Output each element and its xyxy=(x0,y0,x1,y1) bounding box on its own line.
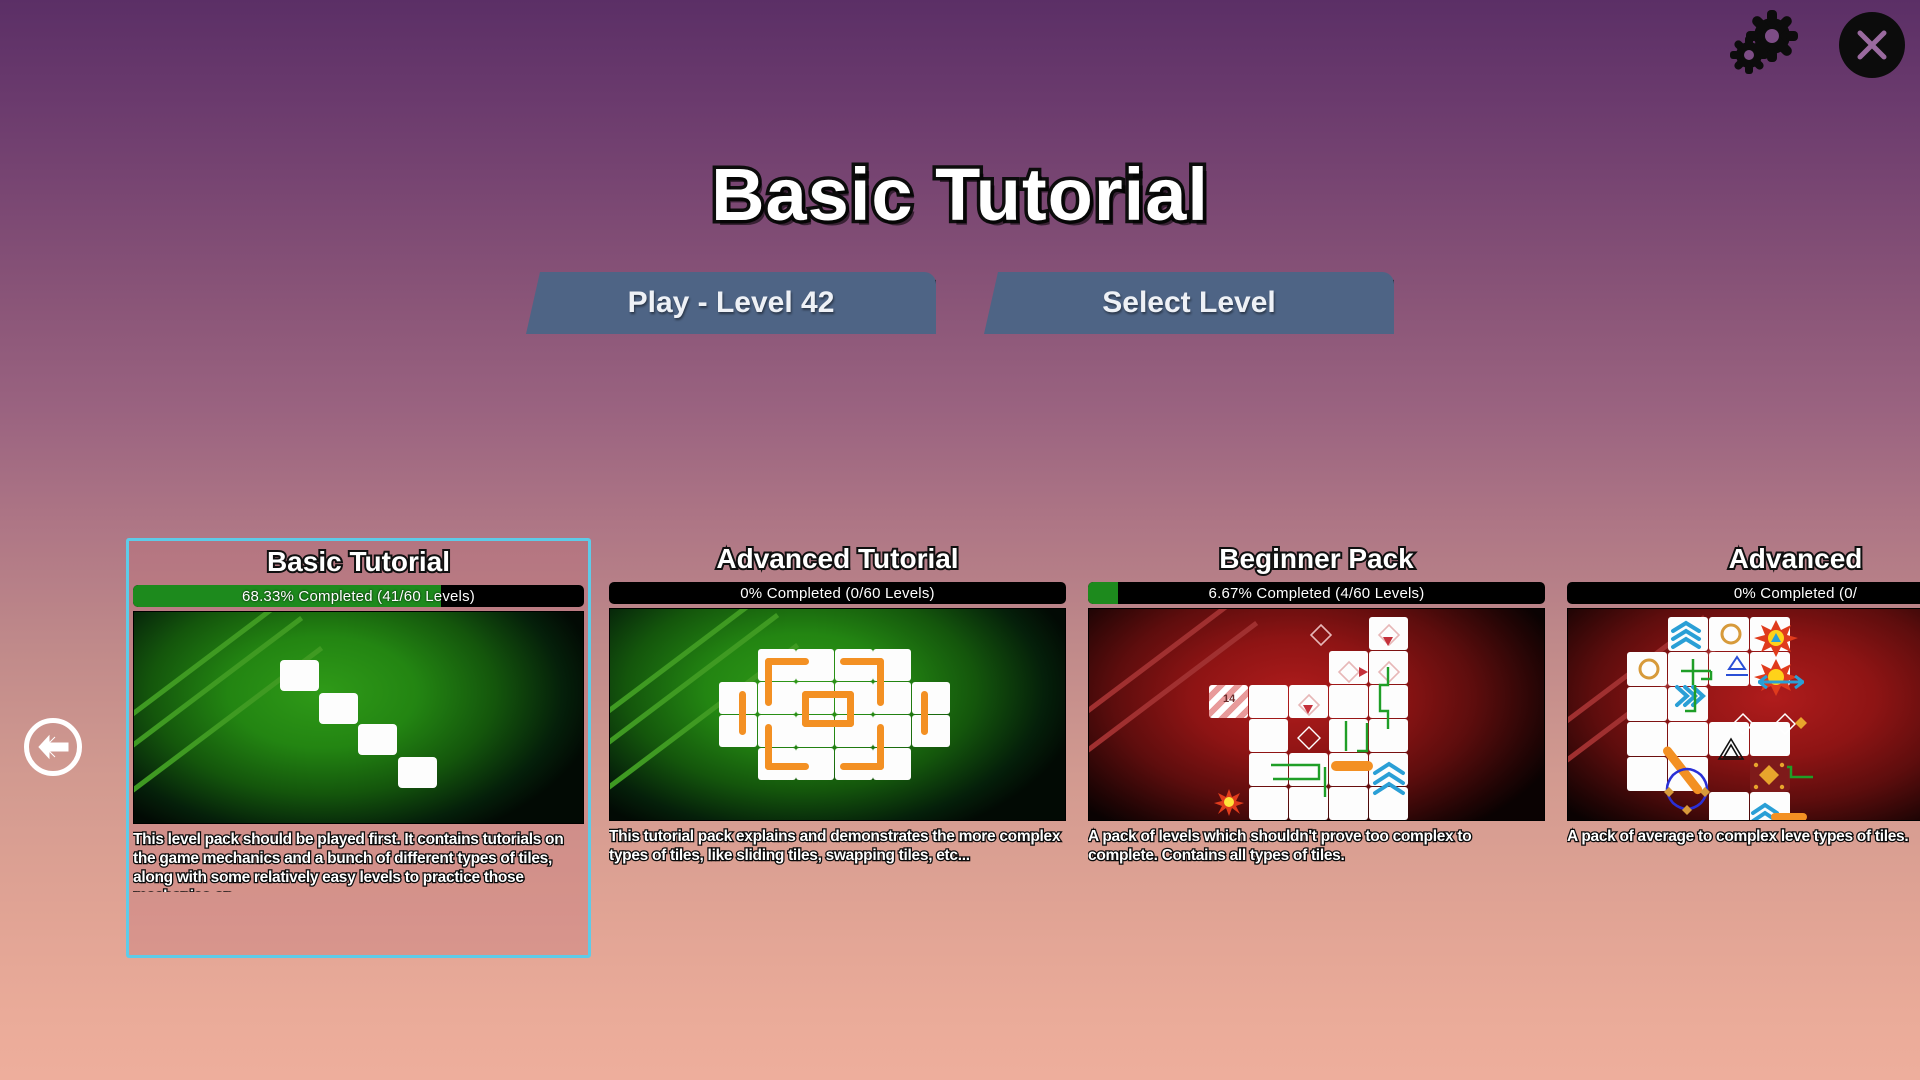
close-circle-icon xyxy=(1835,8,1909,82)
pack-description: This tutorial pack explains and demonstr… xyxy=(609,827,1066,889)
pack-progress-bar: 68.33% Completed (41/60 Levels) xyxy=(133,585,584,607)
pack-progress-label: 0% Completed (0/ xyxy=(1567,582,1920,604)
pack-thumbnail xyxy=(133,611,584,824)
pack-progress-bar: 6.67% Completed (4/60 Levels) xyxy=(1088,582,1545,604)
page-title: Basic Tutorial xyxy=(0,152,1920,237)
thumbnail-tile xyxy=(358,724,397,755)
action-button-row: Play - Level 42 Select Level xyxy=(0,272,1920,334)
pack-title: Advanced xyxy=(1567,541,1920,579)
arrow-left-circle-icon xyxy=(36,732,70,762)
pack-thumbnail: 14 xyxy=(1088,608,1545,821)
pack-description: A pack of levels which shouldn't prove t… xyxy=(1088,827,1545,889)
pack-progress-bar: 0% Completed (0/ xyxy=(1567,582,1920,604)
pack-progress-label: 0% Completed (0/60 Levels) xyxy=(609,582,1066,604)
thumbnail-puzzle-grid xyxy=(1668,617,1888,821)
pack-description: This level pack should be played first. … xyxy=(133,830,584,892)
thumbnail-tile-number: 14 xyxy=(1223,693,1235,705)
play-button[interactable]: Play - Level 42 xyxy=(526,272,936,334)
thumbnail-puzzle-grid xyxy=(718,649,958,779)
level-pack-card-advanced-tutorial[interactable]: Advanced Tutorial 0% Completed (0/60 Lev… xyxy=(605,538,1070,958)
gears-icon xyxy=(1725,8,1805,88)
thumbnail-stripes xyxy=(134,612,583,823)
select-level-button[interactable]: Select Level xyxy=(984,272,1394,334)
pack-progress-label: 6.67% Completed (4/60 Levels) xyxy=(1088,582,1545,604)
thumbnail-tile xyxy=(398,757,437,788)
pack-progress-bar: 0% Completed (0/60 Levels) xyxy=(609,582,1066,604)
thumbnail-tile xyxy=(280,660,319,691)
pack-title: Advanced Tutorial xyxy=(609,541,1066,579)
close-button[interactable] xyxy=(1835,8,1909,82)
thumbnail-puzzle-grid: 14 xyxy=(1209,617,1419,817)
pack-title: Basic Tutorial xyxy=(133,544,584,582)
pack-title: Beginner Pack xyxy=(1088,541,1545,579)
topbar xyxy=(0,0,1920,100)
pack-progress-label: 68.33% Completed (41/60 Levels) xyxy=(133,585,584,607)
level-pack-card-basic-tutorial[interactable]: Basic Tutorial 68.33% Completed (41/60 L… xyxy=(126,538,591,958)
level-pack-card-beginner-pack[interactable]: Beginner Pack 6.67% Completed (4/60 Leve… xyxy=(1084,538,1549,958)
level-pack-carousel[interactable]: Basic Tutorial 68.33% Completed (41/60 L… xyxy=(126,538,1920,958)
carousel-prev-button[interactable] xyxy=(24,718,82,776)
pack-thumbnail xyxy=(1567,608,1920,821)
settings-gear-button[interactable] xyxy=(1725,8,1805,88)
thumbnail-tile xyxy=(319,693,358,724)
level-pack-card-advanced[interactable]: Advanced 0% Completed (0/ xyxy=(1563,538,1920,958)
pack-description: A pack of average to complex leve types … xyxy=(1567,827,1920,889)
pack-thumbnail xyxy=(609,608,1066,821)
